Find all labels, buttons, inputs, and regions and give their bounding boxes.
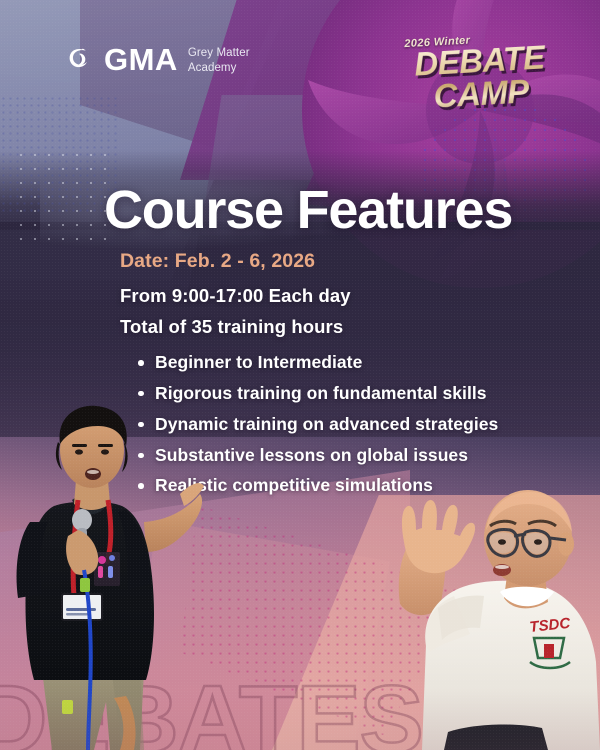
course-hours: Total of 35 training hours xyxy=(120,316,343,338)
list-item: Beginner to Intermediate xyxy=(138,352,498,373)
page-title: Course Features xyxy=(104,183,512,237)
gma-tagline-line2: Academy xyxy=(188,62,237,74)
poster-canvas: DEBATES GMA Grey Matter Academy 2026 Win… xyxy=(0,0,600,750)
dot-grid-pattern xyxy=(14,148,114,248)
gma-logo[interactable]: GMA Grey Matter Academy xyxy=(64,44,250,75)
gma-tagline-line1: Grey Matter xyxy=(188,47,250,59)
gma-swirl-icon xyxy=(64,45,94,75)
gma-wordmark: GMA xyxy=(104,44,178,75)
photo-left-speaker xyxy=(0,402,206,750)
course-time: From 9:00-17:00 Each day xyxy=(120,285,351,307)
camp-name-label: DEBATE CAMP xyxy=(389,39,572,115)
debate-camp-logo[interactable]: 2026 Winter DEBATE CAMP xyxy=(388,29,572,115)
photo-right-speaker: TSDC xyxy=(352,486,600,750)
list-item: Rigorous training on fundamental skills xyxy=(138,383,498,404)
course-date: Date: Feb. 2 - 6, 2026 xyxy=(120,250,315,273)
gma-tagline: Grey Matter Academy xyxy=(188,44,250,74)
